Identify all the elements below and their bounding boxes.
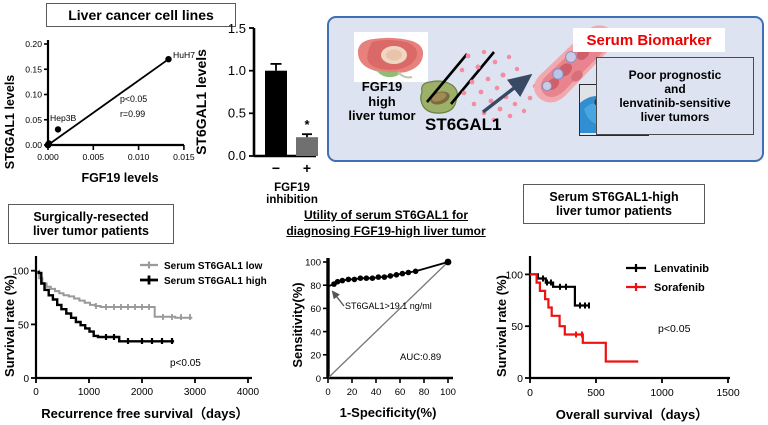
km1-xtick-1: 1000 bbox=[78, 387, 101, 398]
scatter-ylabel: ST6GAL1 levels bbox=[3, 75, 17, 170]
km1-xtick-0: 0 bbox=[33, 387, 39, 398]
scatter-point-huh7 bbox=[165, 56, 171, 62]
roc-panel: Sensitivity(%) 0 20 40 60 80 100 0 20 40 bbox=[288, 250, 488, 425]
conclusion-box: Poor prognostic and lenvatinib-sensitive… bbox=[596, 57, 754, 135]
km2-xtick-0: 0 bbox=[527, 387, 533, 399]
illustration-panel: FGF19 high liver tumor ST6GAL1 Serum Bio… bbox=[327, 16, 764, 162]
roc-title: Utility of serum ST6GAL1 for diagnosing … bbox=[266, 208, 506, 239]
bar-ylabel: ST6GAL1 levels bbox=[193, 49, 209, 155]
km2-xtick-2: 1000 bbox=[650, 387, 674, 399]
scatter-ytick-2: 0.10 bbox=[25, 90, 42, 100]
roc-xtick-1: 20 bbox=[347, 387, 358, 398]
serum-high-title-box: Serum ST6GAL1-high liver tumor patients bbox=[523, 184, 705, 224]
km1-legend-high: Serum ST6GAL1 high bbox=[164, 276, 267, 287]
bar-significance-star: * bbox=[304, 117, 310, 132]
bar-category-plus: + bbox=[303, 160, 311, 176]
bar-plus bbox=[296, 137, 318, 156]
st6gal1-label: ST6GAL1 bbox=[425, 115, 502, 135]
km1-pvalue: p<0.05 bbox=[170, 358, 201, 369]
roc-ytick-0: 0 bbox=[316, 374, 321, 385]
roc-auc-label: AUC:0.89 bbox=[400, 352, 441, 363]
conclusion-line2: and bbox=[619, 82, 730, 96]
km1-legend: Serum ST6GAL1 low Serum ST6GAL1 high bbox=[140, 261, 267, 287]
km1-ytick-1: 50 bbox=[18, 320, 30, 331]
surgical-patients-title-box: Surgically-resected liver tumor patients bbox=[8, 204, 174, 244]
bar-chart-panel: ST6GAL1 levels 0.0 0.5 1.0 1.5 * − + bbox=[192, 14, 327, 204]
surgical-title-line1: Surgically-resected bbox=[33, 210, 149, 224]
fgf19-tumor-label: FGF19 high liver tumor bbox=[334, 80, 430, 124]
km2-ytick-2: 100 bbox=[505, 269, 523, 281]
km2-legend: Lenvatinib Sorafenib bbox=[626, 263, 709, 294]
km-overall-panel: Survival rate (%) 0 50 100 0 500 1000 15… bbox=[490, 248, 768, 425]
roc-ytick-2: 40 bbox=[310, 327, 321, 338]
roc-cutoff-arrow bbox=[333, 292, 344, 306]
bar-xlabel-line1: FGF19 bbox=[274, 182, 310, 194]
km2-legend-sorafenib: Sorafenib bbox=[654, 282, 705, 294]
roc-cutoff-label: ST6GAL1>19.1 ng/ml bbox=[345, 301, 432, 311]
conclusion-line3: lenvatinib-sensitive bbox=[619, 96, 730, 110]
km1-ytick-2: 100 bbox=[12, 267, 29, 278]
serum-biomarker-text: Serum Biomarker bbox=[586, 32, 711, 49]
km2-xtick-3: 1500 bbox=[716, 387, 740, 399]
conclusion-line4: liver tumors bbox=[619, 110, 730, 124]
km1-xtick-4: 4000 bbox=[237, 387, 260, 398]
scatter-point-1 bbox=[46, 140, 52, 146]
roc-ylabel: Sensitivity(%) bbox=[290, 282, 305, 367]
bar-ytick-1: 0.5 bbox=[228, 106, 246, 121]
surgical-title-line2: liver tumor patients bbox=[33, 224, 149, 238]
scatter-point-hep3b bbox=[55, 126, 61, 132]
liver-illustration-svg bbox=[354, 32, 428, 82]
roc-points bbox=[331, 259, 451, 287]
scatter-ytick-4: 0.20 bbox=[25, 39, 42, 49]
km-overall-svg: Survival rate (%) 0 50 100 0 500 1000 15… bbox=[490, 248, 768, 425]
bar-ytick-3: 1.5 bbox=[228, 21, 246, 36]
bar-minus bbox=[265, 71, 287, 156]
serum-high-title-line2: liver tumor patients bbox=[549, 204, 678, 218]
km1-xtick-2: 2000 bbox=[131, 387, 154, 398]
scatter-annotation-r: r=0.99 bbox=[120, 109, 145, 119]
roc-xtick-5: 100 bbox=[440, 387, 456, 398]
roc-xtick-0: 0 bbox=[325, 387, 330, 398]
bar-ytick-2: 1.0 bbox=[228, 63, 246, 78]
km-recurrence-svg: Survival rate (%) 0 50 100 0 1000 2000 3… bbox=[0, 248, 290, 425]
roc-title-line2: diagnosing FGF19-high liver tumor bbox=[266, 224, 506, 240]
scatter-plot-panel: ST6GAL1 levels 0.00 0.05 0.10 0.15 0.20 … bbox=[2, 32, 192, 187]
km1-xtick-3: 3000 bbox=[184, 387, 207, 398]
km2-series-sorafenib bbox=[530, 274, 638, 361]
st6gal1-label-text: ST6GAL1 bbox=[425, 115, 502, 134]
roc-ytick-1: 20 bbox=[310, 351, 321, 362]
roc-ytick-4: 80 bbox=[310, 281, 321, 292]
fgf19-label-line1: FGF19 bbox=[334, 80, 430, 95]
km2-ytick-0: 0 bbox=[517, 373, 523, 385]
scatter-ytick-1: 0.05 bbox=[25, 115, 42, 125]
km1-legend-low: Serum ST6GAL1 low bbox=[164, 261, 263, 272]
roc-xlabel: 1-Specificity(%) bbox=[340, 405, 437, 420]
km1-xlabel: Recurrence free survival（days） bbox=[41, 406, 248, 421]
bar-ytick-0: 0.0 bbox=[228, 148, 246, 163]
scatter-xtick-2: 0.010 bbox=[128, 152, 150, 162]
km2-xtick-1: 500 bbox=[587, 387, 605, 399]
roc-title-line1: Utility of serum ST6GAL1 for bbox=[266, 208, 506, 224]
km1-ytick-0: 0 bbox=[23, 374, 29, 385]
km1-ylabel: Survival rate (%) bbox=[2, 275, 17, 377]
serum-biomarker-badge: Serum Biomarker bbox=[573, 28, 725, 52]
km2-xlabel: Overall survival（days） bbox=[556, 407, 708, 422]
scatter-label-hep3b: Hep3B bbox=[50, 113, 77, 123]
scatter-xtick-1: 0.005 bbox=[83, 152, 105, 162]
scatter-annotation-pvalue: p<0.05 bbox=[120, 94, 147, 104]
km2-ylabel: Survival rate (%) bbox=[494, 275, 509, 377]
fgf19-label-line3: liver tumor bbox=[334, 109, 430, 124]
roc-svg: Sensitivity(%) 0 20 40 60 80 100 0 20 40 bbox=[288, 250, 488, 425]
scatter-ytick-3: 0.15 bbox=[25, 64, 42, 74]
roc-xtick-3: 60 bbox=[395, 387, 406, 398]
liver-image-box bbox=[354, 32, 428, 82]
scatter-plot-svg: ST6GAL1 levels 0.00 0.05 0.10 0.15 0.20 … bbox=[2, 32, 192, 187]
km-recurrence-panel: Survival rate (%) 0 50 100 0 1000 2000 3… bbox=[0, 248, 290, 425]
scatter-xlabel: FGF19 levels bbox=[81, 171, 158, 185]
scatter-ytick-0: 0.00 bbox=[25, 140, 42, 150]
scatter-trendline bbox=[48, 59, 169, 145]
conclusion-line1: Poor prognostic bbox=[619, 68, 730, 82]
km2-ytick-1: 50 bbox=[511, 321, 523, 333]
km2-legend-lenvatinib: Lenvatinib bbox=[654, 263, 709, 275]
bar-xlabel-line2: inhibition bbox=[266, 194, 318, 206]
fgf19-label-line2: high bbox=[334, 95, 430, 110]
roc-ytick-5: 100 bbox=[305, 258, 321, 269]
serum-high-title-line1: Serum ST6GAL1-high bbox=[549, 190, 678, 204]
km2-censors-lenvatinib bbox=[543, 276, 589, 309]
bar-category-minus: − bbox=[272, 160, 280, 176]
roc-xtick-4: 80 bbox=[419, 387, 430, 398]
bar-chart-svg: ST6GAL1 levels 0.0 0.5 1.0 1.5 * − + bbox=[192, 14, 327, 204]
km2-pvalue: p<0.05 bbox=[658, 323, 691, 335]
roc-ytick-3: 60 bbox=[310, 304, 321, 315]
roc-xtick-2: 40 bbox=[371, 387, 382, 398]
scatter-xtick-0: 0.000 bbox=[37, 152, 59, 162]
